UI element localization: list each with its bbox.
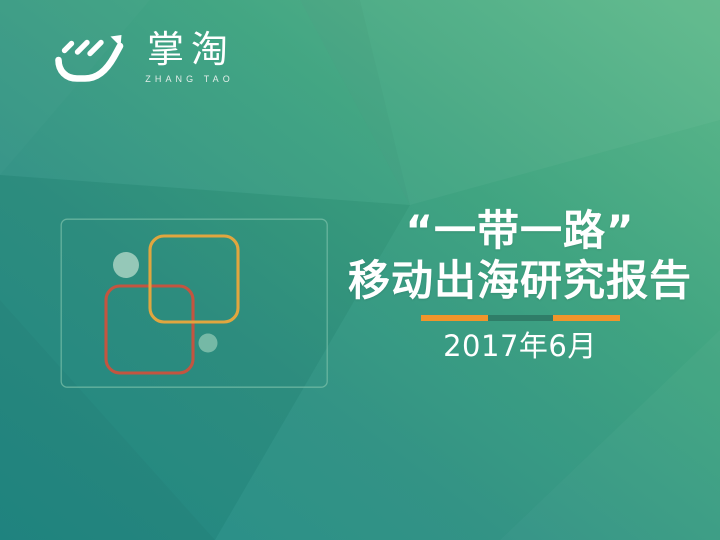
deco-circle-small [199, 334, 218, 353]
publication-date: 2017年6月 [336, 327, 704, 365]
brand-wordmark: 掌淘 ZHANG TAO [140, 30, 235, 88]
divider-segment-right [553, 315, 620, 321]
divider-segment-middle [488, 315, 553, 321]
decorative-shapes [60, 218, 335, 393]
title-divider [336, 315, 704, 321]
brand-logo: 掌淘 ZHANG TAO [52, 24, 235, 88]
brand-name-pinyin: ZHANG TAO [141, 73, 234, 86]
zhangtao-hand-arrow-icon [52, 24, 126, 88]
presentation-cover-slide: 掌淘 ZHANG TAO “一带一路” 移动出海研究报告 2017年6月 [0, 0, 720, 540]
brand-name-chinese: 掌淘 [140, 30, 235, 70]
title-block: “一带一路” 移动出海研究报告 2017年6月 [336, 206, 704, 365]
title-secondary: 移动出海研究报告 [336, 256, 704, 306]
title-primary: “一带一路” [336, 206, 704, 256]
divider-segment-left [421, 315, 488, 321]
deco-circle-large [113, 252, 139, 278]
